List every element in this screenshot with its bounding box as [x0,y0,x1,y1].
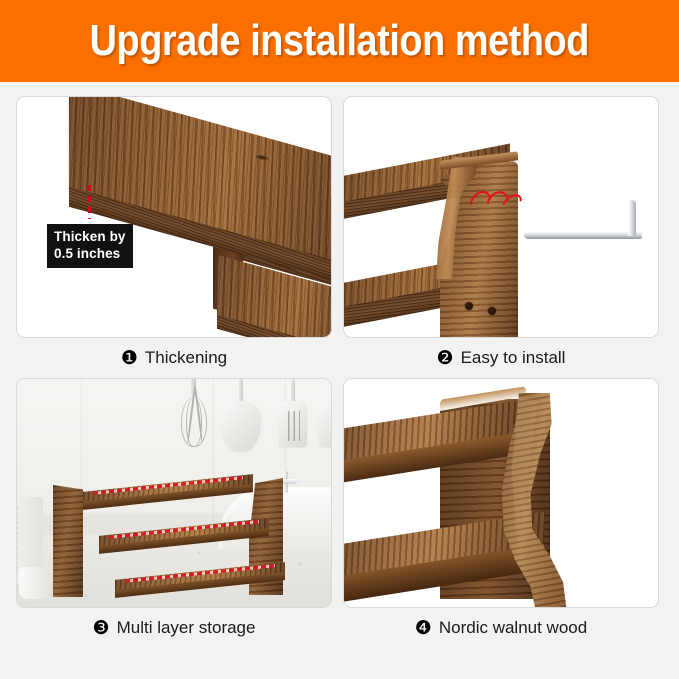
thickness-dashed-marker-icon [88,185,91,219]
panel-easy-to-install [343,96,659,338]
turner-head [279,401,307,447]
three-tier-rack [53,465,293,589]
feature-cell-walnut-wood: ❹ Nordic walnut wood [343,378,659,648]
panel-nordic-walnut-wood [343,378,659,608]
feature-grid: Thicken by 0.5 inches ❶ Thickening [0,82,679,648]
spoon-head [221,401,261,451]
panel-thickening: Thicken by 0.5 inches [16,96,332,338]
screw-hole-2 [488,307,496,315]
caption-text-thickening: Thickening [145,348,227,368]
allen-key-long-arm [524,231,642,239]
walnut-wood-illustration [344,379,658,607]
caption-thickening: ❶ Thickening [16,338,332,378]
thicken-callout-label: Thicken by 0.5 inches [47,224,133,268]
thickening-illustration: Thicken by 0.5 inches [17,97,331,337]
easy-install-illustration [344,97,658,337]
allen-key-icon [524,200,646,244]
feature-cell-thickening: Thicken by 0.5 inches ❶ Thickening [16,96,332,378]
thicken-callout-line-1: Thicken by [54,229,126,244]
caption-multi-layer-storage: ❸ Multi layer storage [16,608,332,648]
step-number-3: ❸ [93,619,110,638]
thicken-callout-line-2: 0.5 inches [54,246,120,261]
spatula-head [317,401,332,447]
whisk-icon [177,385,211,451]
step-number-1: ❶ [121,349,138,368]
kitchen-pot [19,567,49,599]
feature-row-bottom: ❸ Multi layer storage ❹ No [16,378,663,648]
caption-easy-to-install: ❷ Easy to install [343,338,659,378]
caption-nordic-walnut-wood: ❹ Nordic walnut wood [343,608,659,648]
panel-multi-layer-storage [16,378,332,608]
screw-hole-1 [465,302,473,310]
rack-side-left [53,485,83,597]
kitchen-scene-illustration [17,379,331,607]
page-title: Upgrade installation method [90,16,589,66]
feature-cell-easy-install: ❷ Easy to install [343,96,659,378]
caption-text-nordic-walnut-wood: Nordic walnut wood [439,618,587,638]
caption-text-multi-layer-storage: Multi layer storage [117,618,256,638]
caption-text-easy-to-install: Easy to install [461,348,566,368]
header-banner: Upgrade installation method [0,0,679,82]
feature-cell-multi-layer: ❸ Multi layer storage [16,378,332,648]
feature-row-top: Thicken by 0.5 inches ❶ Thickening [16,96,663,378]
step-number-2: ❷ [437,349,454,368]
step-number-4: ❹ [415,619,432,638]
